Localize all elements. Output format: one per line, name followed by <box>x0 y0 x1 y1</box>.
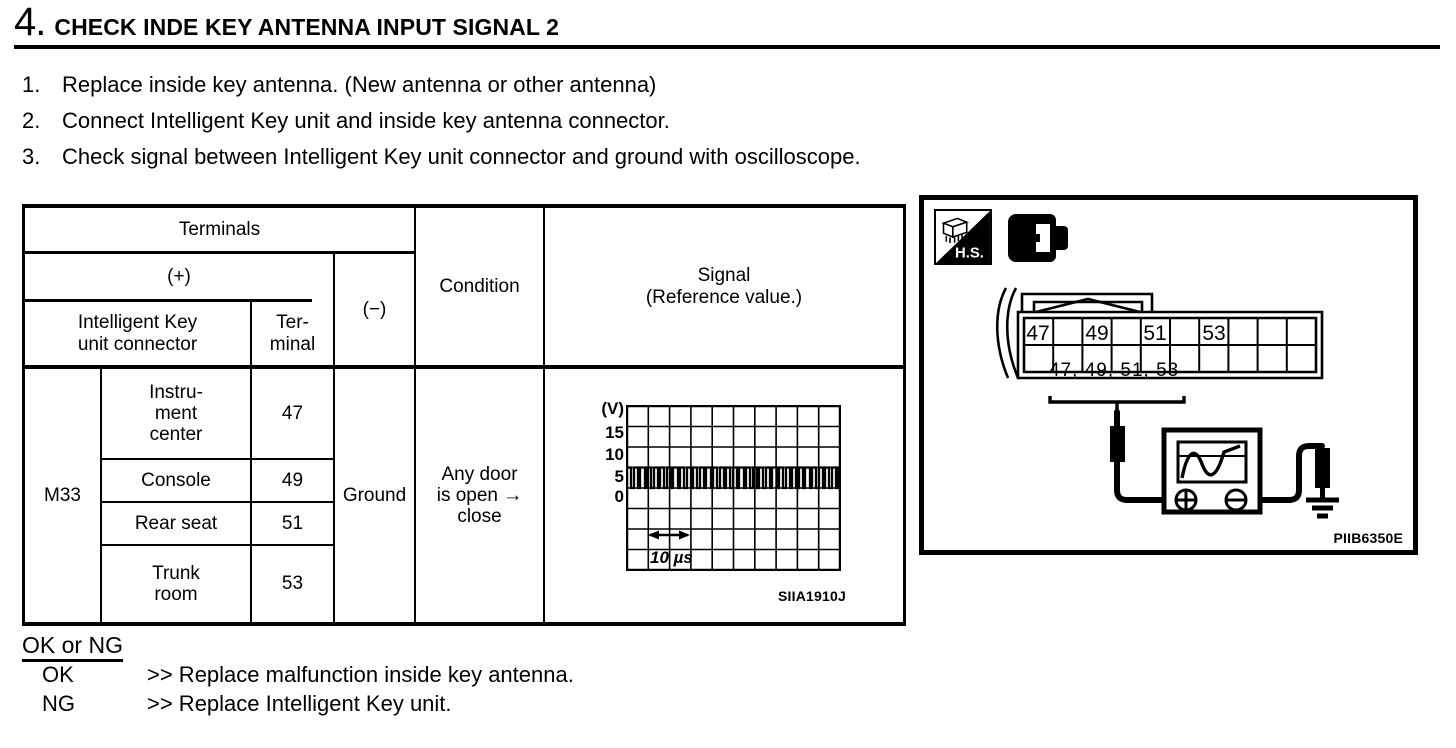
list-item: 2. Connect Intelligent Key unit and insi… <box>22 108 1322 144</box>
svg-text:H.S.: H.S. <box>955 245 984 261</box>
result-title: OK or NG <box>22 633 123 662</box>
pin-number-49: 49 <box>1085 322 1108 345</box>
hs-badge-icon: H.S. <box>934 209 992 265</box>
list-item: 1. Replace inside key antenna. (New ante… <box>22 72 1322 108</box>
cell-ground: Ground <box>335 369 414 622</box>
step-text: Check signal between Intelligent Key uni… <box>62 144 861 170</box>
table-row-location: Instru- ment center <box>102 369 250 458</box>
step-text: Connect Intelligent Key unit and inside … <box>62 108 670 134</box>
result-key: OK <box>42 662 147 688</box>
result-row-ok: OK >> Replace malfunction inside key ant… <box>42 662 922 691</box>
probe-barrel-negative <box>1315 448 1330 488</box>
pin-number-47: 47 <box>1026 322 1049 345</box>
header-terminal: Ter- minal <box>252 302 333 365</box>
procedure-steps: 1. Replace inside key antenna. (New ante… <box>22 72 1322 180</box>
step-text: Replace inside key antenna. (New antenna… <box>62 72 656 98</box>
result-key: NG <box>42 691 147 717</box>
panel-figure-code: PIIB6350E <box>1333 530 1403 546</box>
result-value: >> Replace Intelligent Key unit. <box>147 691 452 717</box>
table-row-location: Trunk room <box>102 546 250 622</box>
oscilloscope-terminal-positive <box>1176 490 1196 510</box>
cell-connector-id: M33 <box>25 369 100 622</box>
table-row-terminal: 47 <box>252 369 333 458</box>
measurement-circuit-diagram <box>1044 390 1364 540</box>
step-index: 3. <box>22 144 62 170</box>
header-minus: (−) <box>335 254 414 365</box>
connector-illustration-panel: H.S. <box>919 195 1418 555</box>
waveform-unit-label: (V) <box>601 400 624 417</box>
connector-silhouette-icon <box>1006 210 1072 266</box>
table-border-right <box>903 204 906 626</box>
table-row-location: Rear seat <box>102 503 250 544</box>
header-signal-line2: (Reference value.) <box>646 287 802 308</box>
result-section: OK or NG OK >> Replace malfunction insid… <box>22 633 922 720</box>
step-number: 4. <box>14 2 45 42</box>
result-value: >> Replace malfunction inside key antenn… <box>147 662 574 688</box>
waveform-tick-0: 0 <box>615 488 624 505</box>
oscilloscope-terminal-negative <box>1226 490 1246 510</box>
signal-waveform-figure: (V) 15 10 5 0 <box>588 398 888 613</box>
waveform-tick-5: 5 <box>615 468 624 485</box>
header-condition: Condition <box>416 208 543 365</box>
waveform-time-label: 10 µs <box>650 548 693 568</box>
header-terminals: Terminals <box>25 208 414 251</box>
heading-divider <box>14 45 1440 49</box>
page-title: CHECK INDE KEY ANTENNA INPUT SIGNAL 2 <box>54 14 559 41</box>
waveform-tick-15: 15 <box>605 424 624 441</box>
header-connector: Intelligent Key unit connector <box>25 302 250 365</box>
table-border-bottom <box>22 622 906 626</box>
table-row-terminal: 53 <box>252 546 333 622</box>
step-index: 2. <box>22 108 62 134</box>
ground-symbol-icon <box>1306 486 1339 516</box>
waveform-tick-10: 10 <box>605 446 624 463</box>
waveform-figure-code: SIIA1910J <box>778 588 846 604</box>
table-row-terminal: 51 <box>252 503 333 544</box>
table-row-terminal: 49 <box>252 460 333 501</box>
page-heading: 4. CHECK INDE KEY ANTENNA INPUT SIGNAL 2 <box>14 2 1014 46</box>
probe-barrel-positive <box>1110 426 1125 462</box>
pin-number-51: 51 <box>1143 322 1166 345</box>
step-index: 1. <box>22 72 62 98</box>
pin-caption: 47, 49, 51, 53 <box>1049 360 1179 382</box>
waveform-grid <box>626 405 841 571</box>
header-signal: Signal (Reference value.) <box>545 208 903 365</box>
header-plus: (+) <box>25 254 333 299</box>
table-row-location: Console <box>102 460 250 501</box>
list-item: 3. Check signal between Intelligent Key … <box>22 144 1322 180</box>
result-row-ng: NG >> Replace Intelligent Key unit. <box>42 691 922 720</box>
header-signal-line1: Signal <box>698 265 751 286</box>
pin-number-53: 53 <box>1202 322 1225 345</box>
cell-condition: Any door is open → close <box>416 369 543 622</box>
